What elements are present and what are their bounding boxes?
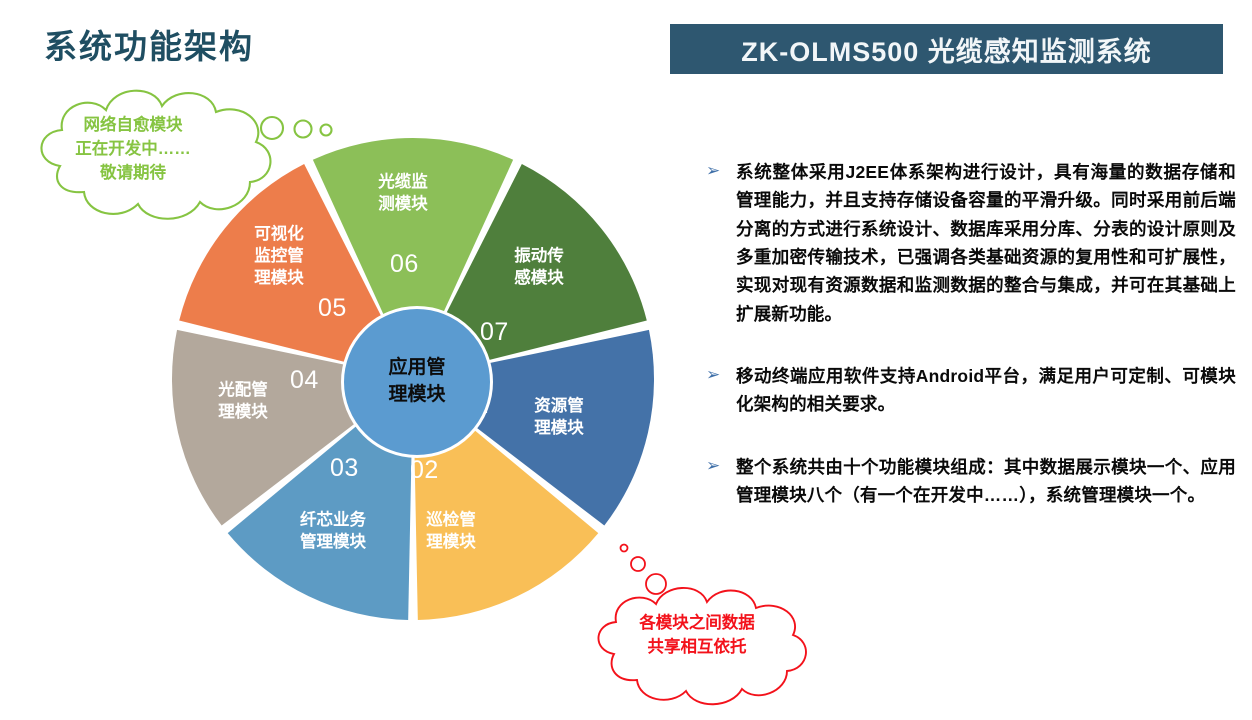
bullet-item: ➢移动终端应用软件支持Android平台，满足用户可定制、可模块化架构的相关要求…: [706, 362, 1236, 419]
donut-center-label: 应用管 理模块: [388, 355, 445, 408]
slide-canvas: 系统功能架构 ZK-OLMS500 光缆感知监测系统 资源管 理模块01巡检管 …: [0, 0, 1252, 702]
cloud-red-shape: [590, 590, 830, 720]
cloud-green-shape: [26, 88, 326, 238]
bullet-text: 移动终端应用软件支持Android平台，满足用户可定制、可模块化架构的相关要求。: [736, 362, 1236, 419]
bullet-text: 整个系统共由十个功能模块组成：其中数据展示模块一个、应用管理模块八个（有一个在开…: [736, 453, 1236, 510]
bullet-arrow-icon: ➢: [706, 158, 736, 328]
page-title: 系统功能架构: [44, 20, 254, 68]
header-banner-title: ZK-OLMS500 光缆感知监测系统: [741, 30, 1152, 69]
description-bullet-list: ➢系统整体采用J2EE体系架构进行设计，具有海量的数据存储和管理能力，并且支持存…: [706, 158, 1236, 543]
thought-cloud-green: 网络自愈模块 正在开发中…… 敬请期待: [26, 88, 326, 238]
bullet-text: 系统整体采用J2EE体系架构进行设计，具有海量的数据存储和管理能力，并且支持存储…: [736, 158, 1236, 328]
donut-center-hub[interactable]: 应用管 理模块: [341, 306, 493, 458]
bullet-item: ➢系统整体采用J2EE体系架构进行设计，具有海量的数据存储和管理能力，并且支持存…: [706, 158, 1236, 328]
header-banner: ZK-OLMS500 光缆感知监测系统: [670, 24, 1223, 74]
bullet-arrow-icon: ➢: [706, 362, 736, 419]
thought-cloud-red: 各模块之间数据 共享相互依托: [590, 590, 830, 720]
bullet-item: ➢整个系统共由十个功能模块组成：其中数据展示模块一个、应用管理模块八个（有一个在…: [706, 453, 1236, 510]
bullet-arrow-icon: ➢: [706, 453, 736, 510]
